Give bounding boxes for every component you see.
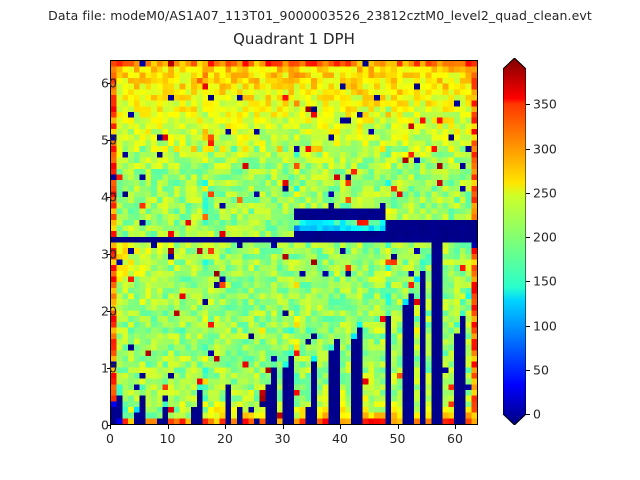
x-tick-mark — [168, 425, 169, 429]
colorbar-tick-mark — [526, 237, 530, 238]
x-tick-label: 60 — [447, 431, 463, 446]
colorbar-tick-mark — [526, 326, 530, 327]
colorbar-tick-label: 350 — [533, 97, 557, 112]
colorbar-tick-mark — [526, 414, 530, 415]
colorbar[interactable] — [503, 58, 526, 425]
colorbar-tick-label: 200 — [533, 230, 557, 245]
colorbar-gradient — [503, 58, 526, 425]
x-tick-label: 50 — [390, 431, 406, 446]
colorbar-tick-label: 50 — [533, 362, 549, 377]
colorbar-tick-mark — [526, 149, 530, 150]
colorbar-tick-label: 100 — [533, 318, 557, 333]
x-tick-mark — [225, 425, 226, 429]
x-tick-mark — [398, 425, 399, 429]
heatmap-axes[interactable] — [110, 60, 478, 425]
colorbar-tick-label: 0 — [533, 407, 541, 422]
x-tick-mark — [283, 425, 284, 429]
colorbar-tick-label: 250 — [533, 185, 557, 200]
x-tick-mark — [455, 425, 456, 429]
colorbar-tick-mark — [526, 281, 530, 282]
x-tick-label: 20 — [217, 431, 233, 446]
data-file-label: Data file: modeM0/AS1A07_113T01_90000035… — [0, 8, 640, 23]
x-tick-label: 40 — [332, 431, 348, 446]
x-tick-mark — [110, 425, 111, 429]
colorbar-tick-label: 150 — [533, 274, 557, 289]
x-tick-label: 0 — [106, 431, 114, 446]
detector-heatmap-image[interactable] — [111, 61, 477, 424]
colorbar-tick-mark — [526, 370, 530, 371]
colorbar-tick-label: 300 — [533, 141, 557, 156]
x-tick-label: 30 — [275, 431, 291, 446]
x-tick-mark — [340, 425, 341, 429]
plot-title: Quadrant 1 DPH — [0, 30, 588, 48]
colorbar-tick-mark — [526, 104, 530, 105]
x-tick-label: 10 — [160, 431, 176, 446]
figure-canvas: Data file: modeM0/AS1A07_113T01_90000035… — [0, 0, 640, 480]
colorbar-tick-mark — [526, 193, 530, 194]
